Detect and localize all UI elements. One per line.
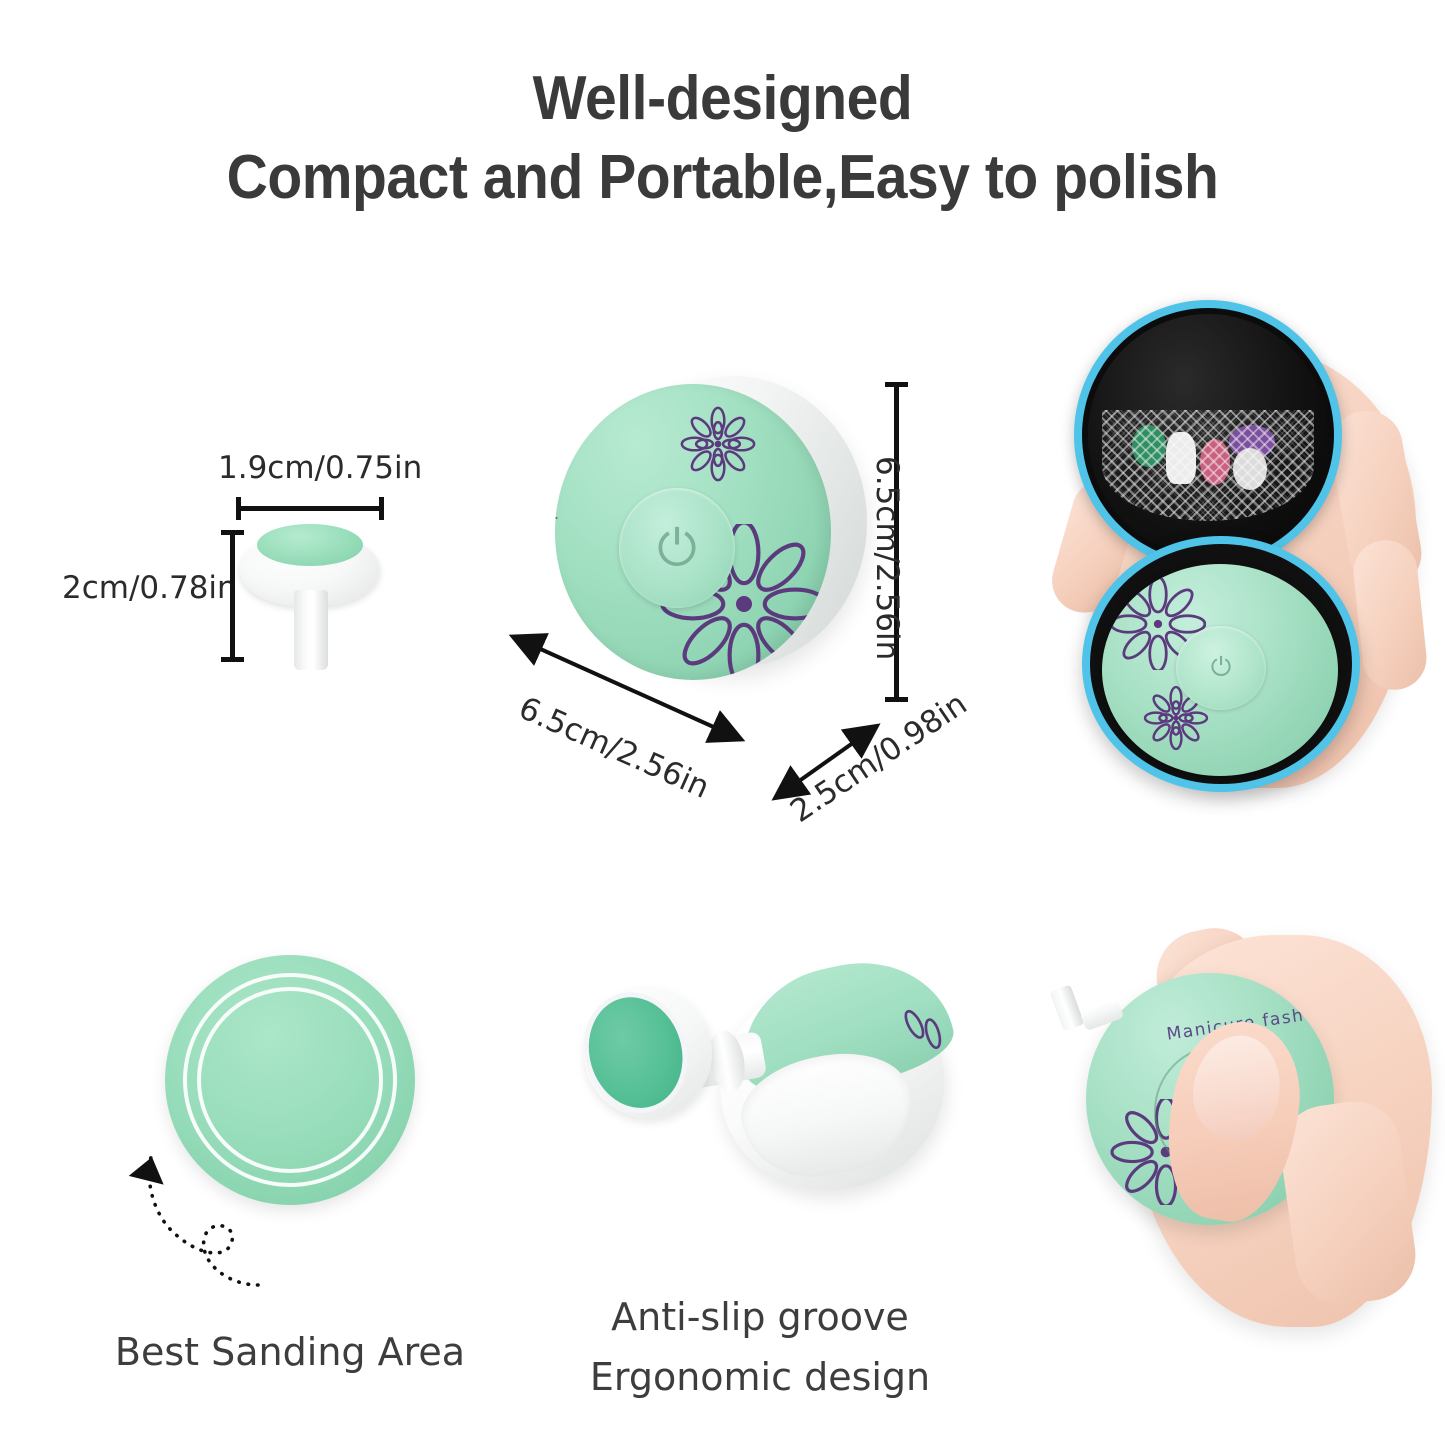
grip-caption-line-1: Anti-slip groove	[540, 1295, 980, 1339]
sanding-area-arrow	[108, 1135, 308, 1295]
head-height-dimension-line	[230, 530, 235, 662]
device-image-tilted	[570, 960, 950, 1260]
mesh-pocket	[1102, 410, 1314, 522]
flower-motif-small	[673, 402, 763, 486]
sanding-area-caption: Best Sanding Area	[20, 1330, 560, 1374]
sanding-head-abrasive-pad	[576, 986, 695, 1119]
thumbnail	[1186, 1028, 1289, 1145]
headline-line-2: Compact and Portable,Easy to polish	[58, 138, 1387, 218]
power-icon: ⏻	[1211, 653, 1232, 684]
sanding-head-attachment-disc	[1049, 985, 1084, 1032]
headline: Well-designed Compact and Portable,Easy …	[0, 60, 1445, 218]
flower-motif-partial	[890, 998, 960, 1064]
hand-holding-device-panel: Manicure fashion	[1020, 935, 1440, 1335]
power-icon: ⏻	[657, 523, 697, 573]
sanding-head-cap	[572, 976, 724, 1130]
device-height-label: 6.5cm/2.56in	[869, 456, 905, 660]
power-button[interactable]: ⏻	[619, 488, 735, 608]
brand-text-device: Manicure fashion	[555, 384, 562, 523]
sanding-head-panel: 1.9cm/0.75in 2cm/0.78in	[40, 430, 460, 710]
sanding-head-abrasive-pad	[257, 524, 363, 566]
mesh-overlay	[1102, 410, 1314, 522]
head-width-dimension-line	[236, 506, 384, 511]
device-in-case: ⏻ Manicure fashion	[1102, 564, 1338, 776]
grip-panel: Anti-slip groove Ergonomic design	[540, 950, 980, 1420]
head-width-label: 1.9cm/0.75in	[218, 450, 422, 486]
sanding-head-image	[240, 520, 380, 670]
sanding-head-stem	[294, 590, 328, 670]
grip-caption-line-2: Ergonomic design	[540, 1355, 980, 1399]
case-base: ⏻ Manicure fashion	[1082, 536, 1360, 792]
carrying-case-panel: ⏻ Manicure fashion	[1040, 290, 1440, 810]
power-button[interactable]: ⏻	[1176, 626, 1266, 710]
device-dimensions-panel: ⏻ Manicure fashion 6.5cm/2.56in 6.5cm/2.…	[500, 360, 970, 810]
sanding-area-panel: Best Sanding Area	[100, 940, 480, 1410]
headline-line-1: Well-designed	[58, 60, 1387, 138]
case-lid	[1074, 300, 1342, 570]
head-height-label: 2cm/0.78in	[62, 570, 237, 606]
